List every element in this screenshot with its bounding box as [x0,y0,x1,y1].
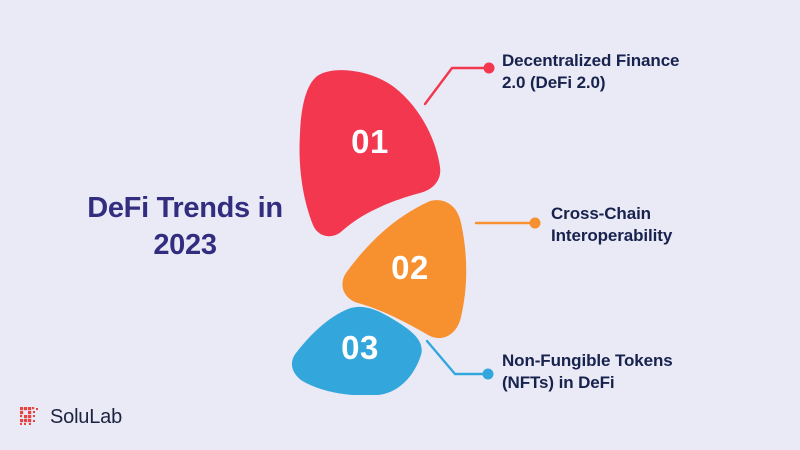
segment-label-01-line-2: 2.0 (DeFi 2.0) [502,72,742,94]
segment-label-02-line-1: Cross-Chain [551,203,771,225]
segment-label-03-line-1: Non-Fungible Tokens [502,350,742,372]
slide-canvas: DeFi Trends in 2023 01 02 03 [0,0,800,450]
connector-dot-02 [530,218,541,229]
arc-segment-01-number: 01 [351,123,389,160]
segment-label-03: Non-Fungible Tokens (NFTs) in DeFi [502,350,742,395]
arc-segment-02-number: 02 [391,249,429,286]
segment-label-01: Decentralized Finance 2.0 (DeFi 2.0) [502,50,742,95]
solulab-pixel-mark-icon [18,405,42,429]
arc-segments-graphic: 01 02 03 [270,55,510,395]
segment-label-01-line-1: Decentralized Finance [502,50,742,72]
segment-label-02-line-2: Interoperability [551,225,771,247]
segment-label-03-line-2: (NFTs) in DeFi [502,372,742,394]
arc-segment-03-number: 03 [341,329,379,366]
segment-label-02: Cross-Chain Interoperability [551,203,771,248]
brand-logo-text: SoluLab [50,406,122,429]
brand-logo[interactable]: SoluLab [18,405,122,429]
